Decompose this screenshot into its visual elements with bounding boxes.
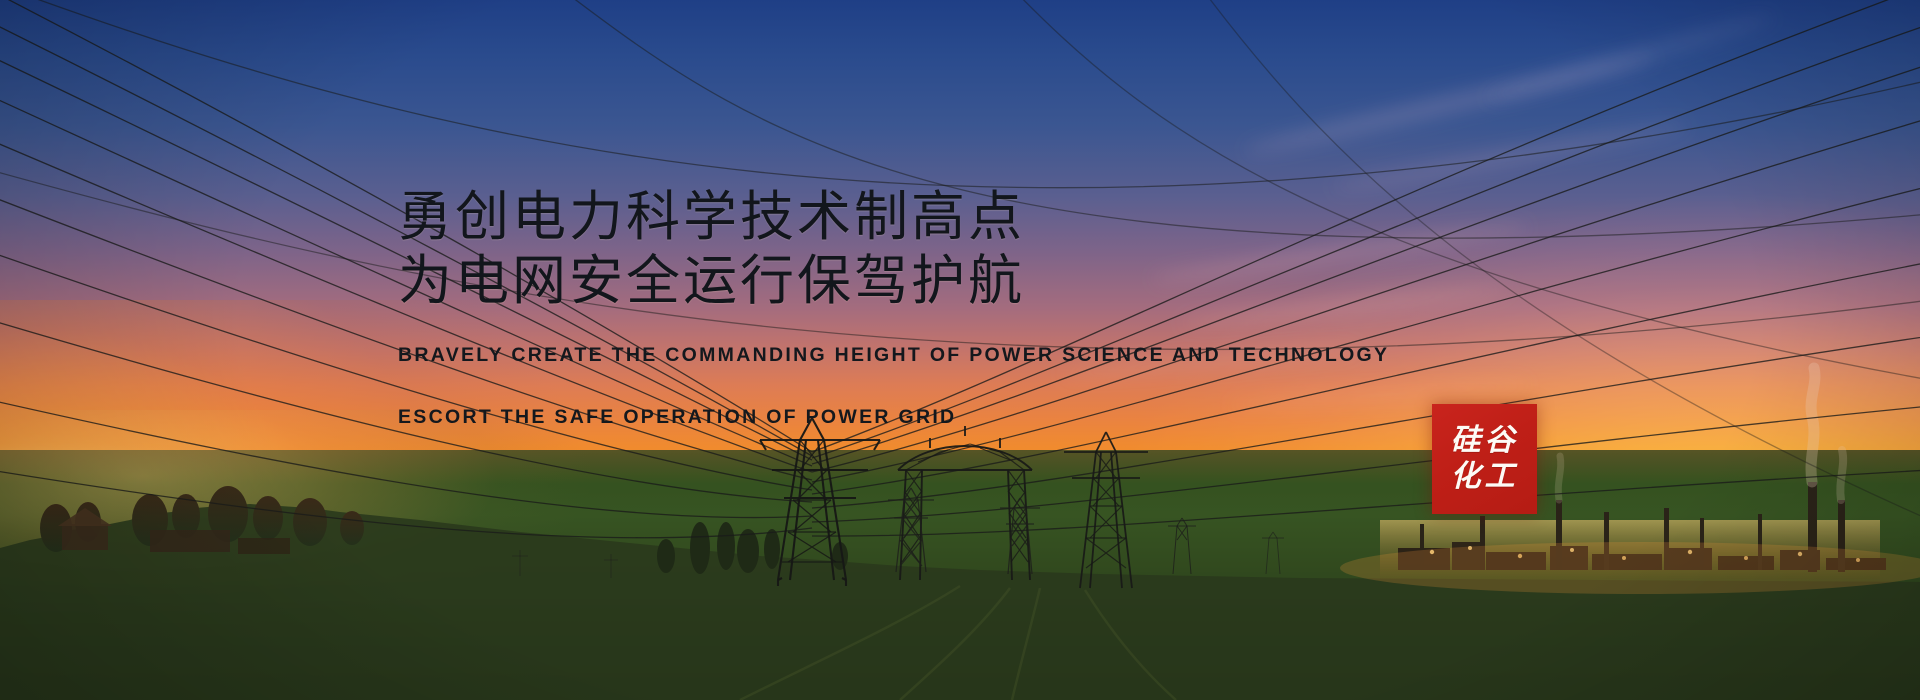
headline-line-2: 为电网安全运行保驾护航 (398, 249, 1498, 313)
banner-copy: 勇创电力科学技术制高点 为电网安全运行保驾护航 BRAVELY CREATE T… (398, 185, 1498, 437)
seal-text-line-2: 化工 (1451, 460, 1519, 494)
company-seal-inner: 硅谷 化工 (1432, 404, 1537, 514)
seal-text-line-1: 硅谷 (1451, 424, 1519, 458)
hero-banner: 勇创电力科学技术制高点 为电网安全运行保驾护航 BRAVELY CREATE T… (0, 0, 1920, 700)
subheadline-line-1: BRAVELY CREATE THE COMMANDING HEIGHT OF … (398, 335, 1498, 375)
headline-line-1: 勇创电力科学技术制高点 (398, 185, 1498, 249)
company-seal-logo[interactable]: 硅谷 化工 (1432, 404, 1537, 514)
field-ground (0, 450, 1920, 700)
horizon-haze (0, 450, 1920, 484)
field-foreground-shadow (0, 580, 1920, 700)
subheadline-line-2: ESCORT THE SAFE OPERATION OF POWER GRID (398, 397, 1498, 437)
